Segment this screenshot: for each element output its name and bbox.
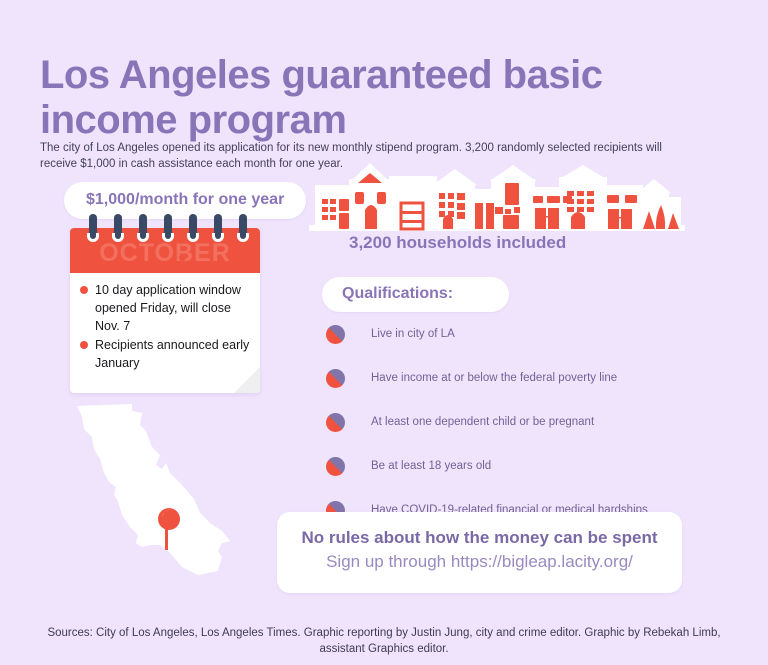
qualification-item: Live in city of LA	[326, 325, 706, 357]
calendar-item-text: Recipients announced early January	[95, 338, 249, 370]
callout-headline: No rules about how the money can be spen…	[287, 527, 672, 549]
bullet-dot-icon	[80, 341, 88, 349]
qualification-text: Be at least 18 years old	[371, 457, 491, 474]
calendar-ring-icon	[189, 214, 197, 240]
california-map	[70, 395, 270, 595]
split-circle-bullet-icon	[326, 457, 345, 476]
calendar-ring-icon	[114, 214, 122, 240]
calendar-day-dot	[179, 254, 186, 261]
calendar-body: 10 day application window opened Friday,…	[70, 273, 260, 393]
qualification-item: Have income at or below the federal pove…	[326, 369, 706, 401]
qualification-text: Have income at or below the federal pove…	[371, 369, 617, 386]
households-caption: 3,200 households included	[349, 233, 566, 253]
signup-callout: No rules about how the money can be spen…	[277, 512, 682, 593]
page-title: Los Angeles guaranteed basic income prog…	[40, 53, 700, 143]
calendar-ring-icon	[214, 214, 222, 240]
calendar-rings	[70, 214, 260, 246]
calendar-ring-icon	[89, 214, 97, 240]
qualification-text: At least one dependent child or be pregn…	[371, 413, 594, 430]
calendar-item-text: 10 day application window opened Friday,…	[95, 283, 241, 333]
page-fold-corner	[234, 367, 260, 393]
qualification-text: Live in city of LA	[371, 325, 455, 342]
signup-link[interactable]: Sign up through https://bigleap.lacity.o…	[287, 549, 672, 575]
qualification-item: Be at least 18 years old	[326, 457, 706, 489]
bullet-dot-icon	[80, 286, 88, 294]
calendar-ring-icon	[164, 214, 172, 240]
california-shape	[77, 404, 230, 575]
split-circle-bullet-icon	[326, 325, 345, 344]
calendar-ring-icon	[239, 214, 247, 240]
calendar-card: OCTOBER 10 day application window opened…	[70, 228, 260, 393]
sources-footer: Sources: City of Los Angeles, Los Angele…	[40, 625, 728, 657]
calendar-list-item: Recipients announced early January	[80, 336, 250, 372]
infographic-page: Los Angeles guaranteed basic income prog…	[0, 0, 768, 665]
qualifications-heading: Qualifications:	[322, 277, 509, 312]
calendar-list-item: 10 day application window opened Friday,…	[80, 281, 250, 335]
split-circle-bullet-icon	[326, 369, 345, 388]
calendar-ring-icon	[139, 214, 147, 240]
qualification-item: At least one dependent child or be pregn…	[326, 413, 706, 445]
houses-illustration	[305, 163, 690, 233]
split-circle-bullet-icon	[326, 413, 345, 432]
